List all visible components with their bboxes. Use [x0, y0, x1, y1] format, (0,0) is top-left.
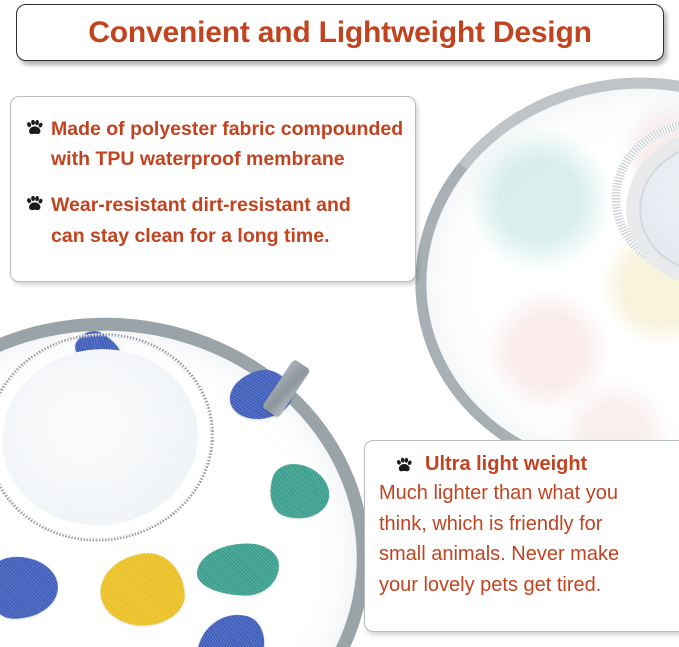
cone-body-pastel	[389, 49, 679, 506]
light-card-line: Much lighter than what you	[379, 478, 679, 509]
paw-print-icon	[395, 456, 413, 474]
feature-bullet-text-group: Wear-resistant dirt-resistant and can st…	[51, 190, 351, 250]
feature-bullet-text-group: Made of polyester fabric compounded with…	[51, 114, 403, 174]
paw-print-icon	[25, 194, 44, 213]
light-card-line: small animals. Never make	[379, 539, 679, 570]
ultra-light-weight-card: Ultra light weight Much lighter than wha…	[364, 440, 679, 632]
title-banner: Convenient and Lightweight Design	[16, 4, 664, 61]
feature-bullet: Wear-resistant dirt-resistant and can st…	[25, 190, 403, 250]
page-title: Convenient and Lightweight Design	[88, 16, 591, 50]
product-infographic: Convenient and Lightweight Design Made o…	[0, 0, 679, 647]
feature-callout-card: Made of polyester fabric compounded with…	[10, 96, 416, 282]
pet-recovery-cone-colored-photo	[0, 292, 393, 647]
light-card-heading-row: Ultra light weight	[379, 453, 679, 476]
feature-bullet: Made of polyester fabric compounded with…	[25, 114, 403, 174]
light-card-heading: Ultra light weight	[425, 453, 587, 476]
feature-bullet-line: with TPU waterproof membrane	[51, 144, 403, 174]
feature-bullet-line: can stay clean for a long time.	[51, 221, 351, 251]
pet-recovery-cone-pastel-photo	[389, 49, 679, 506]
light-card-line: your lovely pets get tired.	[379, 570, 679, 601]
paw-print-icon	[25, 118, 44, 137]
feature-bullet-line: Wear-resistant dirt-resistant and	[51, 190, 351, 220]
feature-bullet-line: Made of polyester fabric compounded	[51, 114, 403, 144]
light-card-line: think, which is friendly for	[379, 509, 679, 540]
